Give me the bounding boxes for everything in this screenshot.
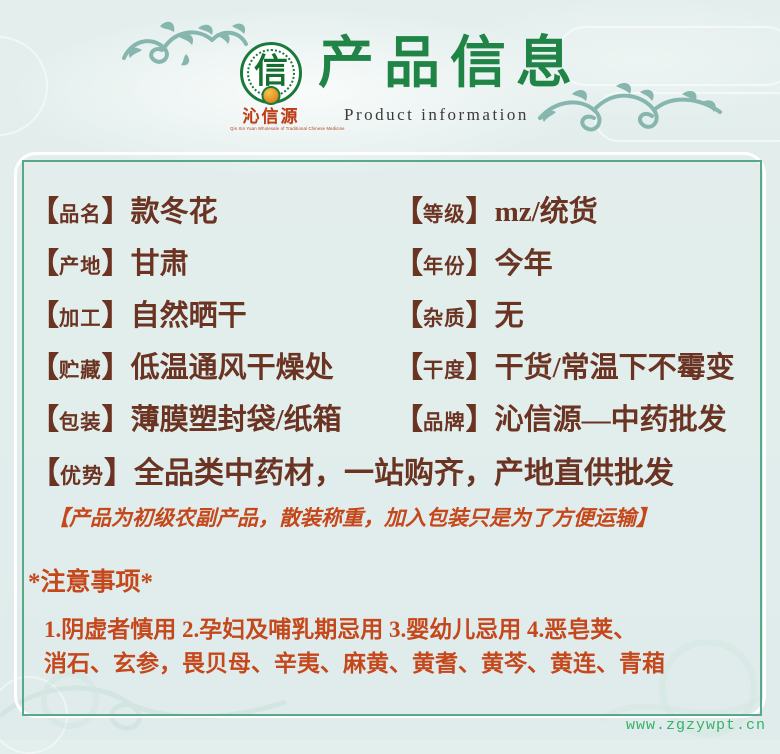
info-label: 【加工】 [30,300,131,332]
info-value: 甘肃 [131,248,189,280]
info-row: 【贮藏】低温通风干燥处 [30,344,334,386]
info-row: 【产地】甘肃 [30,240,189,282]
info-row: 【加工】自然晒干 [30,292,247,334]
info-row: 【杂质】无 [394,292,524,334]
logo-character: 信 [243,55,299,89]
info-label: 【品名】 [30,196,131,228]
info-row: 【年份】今年 [394,240,553,282]
advantage-value: 全品类中药材，一站购齐，产地直供批发 [134,457,674,490]
info-label: 【包装】 [30,404,131,436]
attention-title: *注意事项* [28,562,153,598]
info-value: 干货/常温下不霉变 [495,352,735,384]
info-value: 薄膜塑封袋/纸箱 [131,404,342,436]
advantage-label: 【优势】 [30,457,134,490]
info-value: 款冬花 [131,196,218,228]
site-watermark: www.zgzywpt.cn [626,717,766,734]
info-row: 【品名】款冬花 [30,188,218,230]
brand-subtitle: Qin Xin Yuan Wholesale of Traditional Ch… [230,127,312,131]
info-row: 【干度】干货/常温下不霉变 [394,344,735,386]
page-subtitle: Product information [344,105,529,125]
brand-logo: 信 沁信源 Qin Xin Yuan Wholesale of Traditio… [228,42,314,128]
advantage-row: 【优势】全品类中药材，一站购齐，产地直供批发 [30,448,674,492]
info-label: 【贮藏】 [30,352,131,384]
info-value: 今年 [495,248,553,280]
info-label: 【产地】 [30,248,131,280]
info-value: 低温通风干燥处 [131,352,334,384]
info-value: 沁信源—中药批发 [495,404,727,436]
product-info-page: 信 沁信源 Qin Xin Yuan Wholesale of Traditio… [0,0,780,740]
attention-line: 消石、玄参，畏贝母、辛夷、麻黄、黄耆、黄芩、黄连、青葙 [44,644,665,678]
info-label: 【品牌】 [394,404,495,436]
info-value: 无 [495,300,524,332]
info-row: 【包装】薄膜塑封袋/纸箱 [30,396,342,438]
disclaimer-note: 【产品为初级农副产品，散装称重，加入包装只是为了方便运输】 [48,502,657,532]
product-info-content: 【品名】款冬花 【等级】mz/统货 【产地】甘肃 【年份】今年 【加工】自然晒干… [22,160,762,716]
brand-name: 沁信源 [228,108,314,127]
logo-seal-dot-icon [262,86,281,105]
logo-emblem-icon: 信 [240,42,302,104]
info-label: 【年份】 [394,248,495,280]
info-value: 自然晒干 [131,300,247,332]
info-value: mz/统货 [495,196,598,228]
page-title: 产品信息 [318,36,582,92]
info-row: 【等级】mz/统货 [394,188,598,230]
page-header: 信 沁信源 Qin Xin Yuan Wholesale of Traditio… [0,0,780,150]
attention-line: 1.阴虚者慎用 2.孕妇及哺乳期忌用 3.婴幼儿忌用 4.恶皂荚、 [44,610,636,644]
info-label: 【干度】 [394,352,495,384]
info-label: 【等级】 [394,196,495,228]
info-row: 【品牌】沁信源—中药批发 [394,396,727,438]
info-label: 【杂质】 [394,300,495,332]
